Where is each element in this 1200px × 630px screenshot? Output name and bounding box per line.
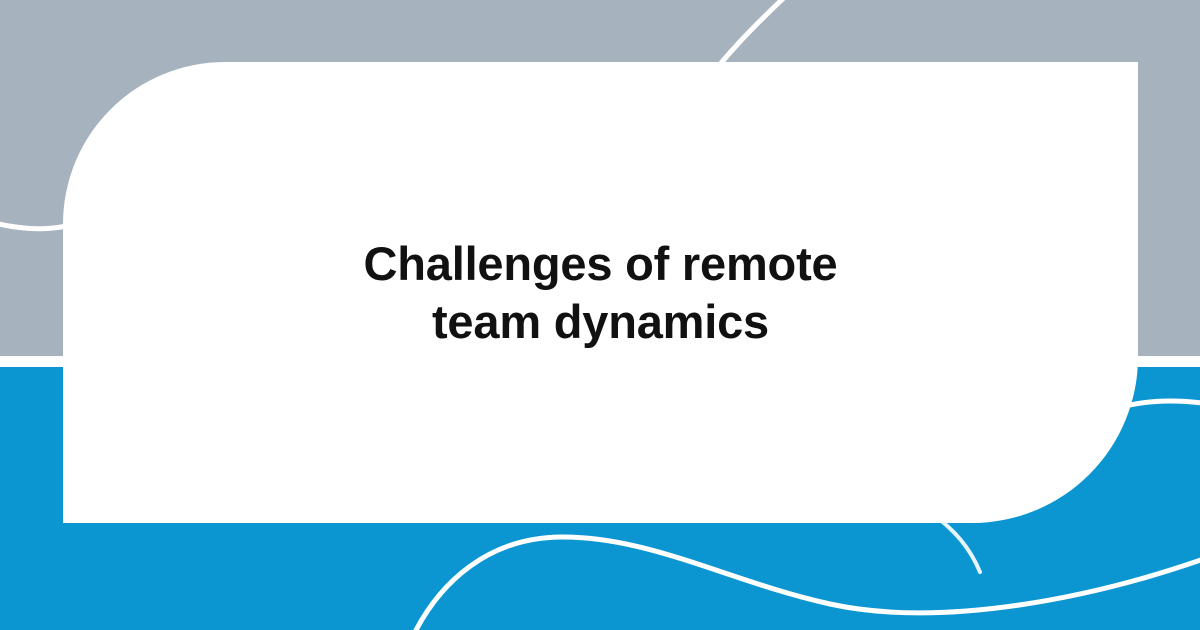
- social-card-canvas: Challenges of remote team dynamics: [0, 0, 1200, 630]
- content-card: Challenges of remote team dynamics: [63, 62, 1138, 523]
- content-card-inner: Challenges of remote team dynamics: [63, 235, 1138, 350]
- page-title: Challenges of remote team dynamics: [341, 235, 861, 350]
